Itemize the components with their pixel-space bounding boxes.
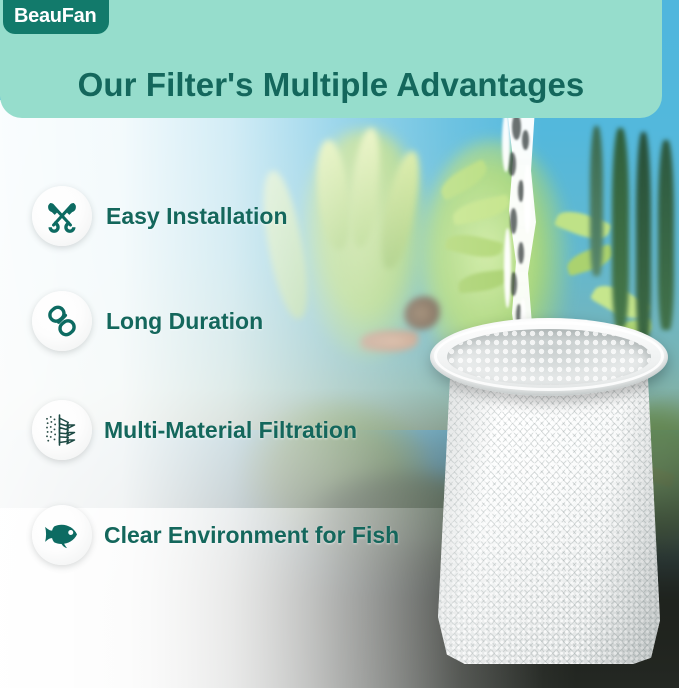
plant-blade-right	[658, 140, 674, 330]
fish-in-tank	[360, 330, 418, 352]
plant-blade-right	[636, 132, 651, 347]
feature-icon-circle	[32, 291, 92, 351]
filter-sock-shading	[438, 352, 660, 664]
feature-icon-circle	[32, 400, 92, 460]
filter-rim-ring	[430, 318, 668, 396]
page-title-text: Our Filter's Multiple Advantages	[78, 66, 585, 104]
feature-item-multi-material-filtration: Multi-Material Filtration	[32, 400, 357, 460]
feature-label: Easy Installation	[106, 203, 288, 230]
water-stream-highlight	[502, 112, 510, 172]
wrench-screwdriver-icon	[44, 198, 80, 234]
feature-icon-circle	[32, 186, 92, 246]
filter-membrane-icon	[42, 410, 82, 450]
water-stream-highlight	[524, 164, 531, 234]
feature-item-easy-installation: Easy Installation	[32, 186, 288, 246]
filter-rim-lip	[434, 321, 664, 391]
plant-blade-right	[612, 128, 629, 328]
water-stream-shadow	[510, 208, 517, 234]
feature-label: Multi-Material Filtration	[104, 417, 357, 444]
brand-name: BeauFan	[14, 5, 96, 27]
filter-sock	[430, 318, 668, 668]
water-stream-shadow	[518, 242, 524, 264]
feature-item-clear-environment-for-fish: Clear Environment for Fish	[32, 505, 399, 565]
feature-icon-circle	[32, 505, 92, 565]
filter-sock-body	[438, 352, 660, 664]
feature-item-long-duration: Long Duration	[32, 291, 263, 351]
feature-label: Long Duration	[106, 308, 263, 335]
brand-logo-badge: BeauFan	[3, 0, 109, 34]
feature-label: Clear Environment for Fish	[104, 522, 399, 549]
water-stream-shadow	[510, 272, 517, 296]
chain-link-icon	[44, 303, 80, 339]
water-stream-highlight	[504, 228, 511, 308]
aquarium-equipment-tube	[590, 126, 603, 276]
product-feature-banner: Our Filter's Multiple Advantages BeauFan	[0, 0, 679, 688]
water-stream-shadow	[522, 130, 529, 150]
fish-icon	[42, 515, 82, 555]
